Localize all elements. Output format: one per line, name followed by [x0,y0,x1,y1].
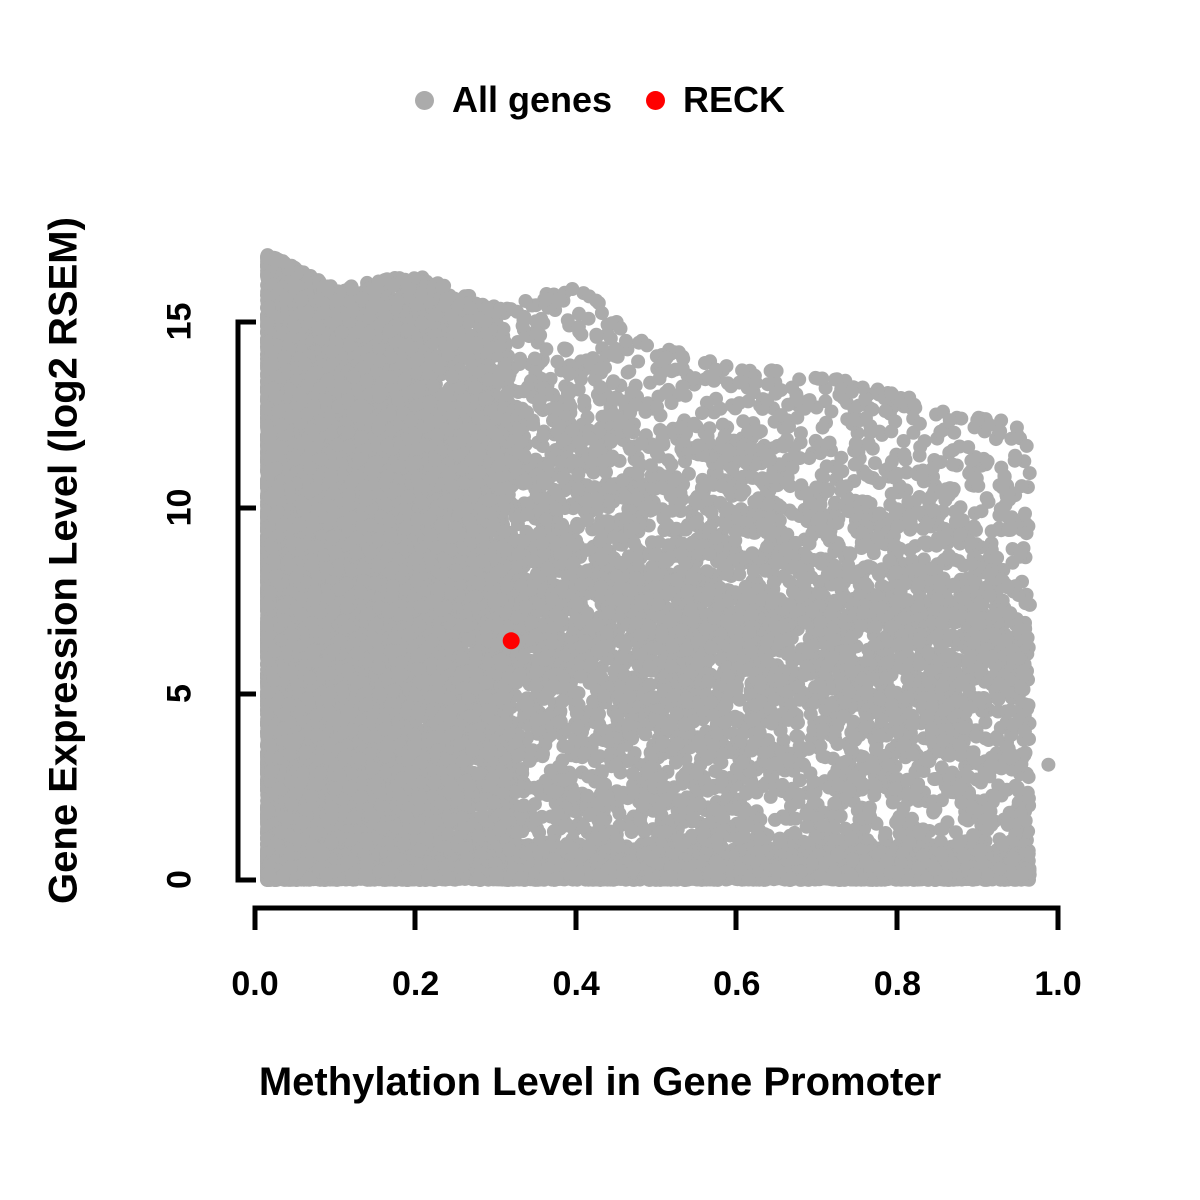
plot-canvas [0,0,1200,1200]
scatter-plot-figure: All genes RECK Methylation Level in Gene… [0,0,1200,1200]
data-point [897,447,911,461]
